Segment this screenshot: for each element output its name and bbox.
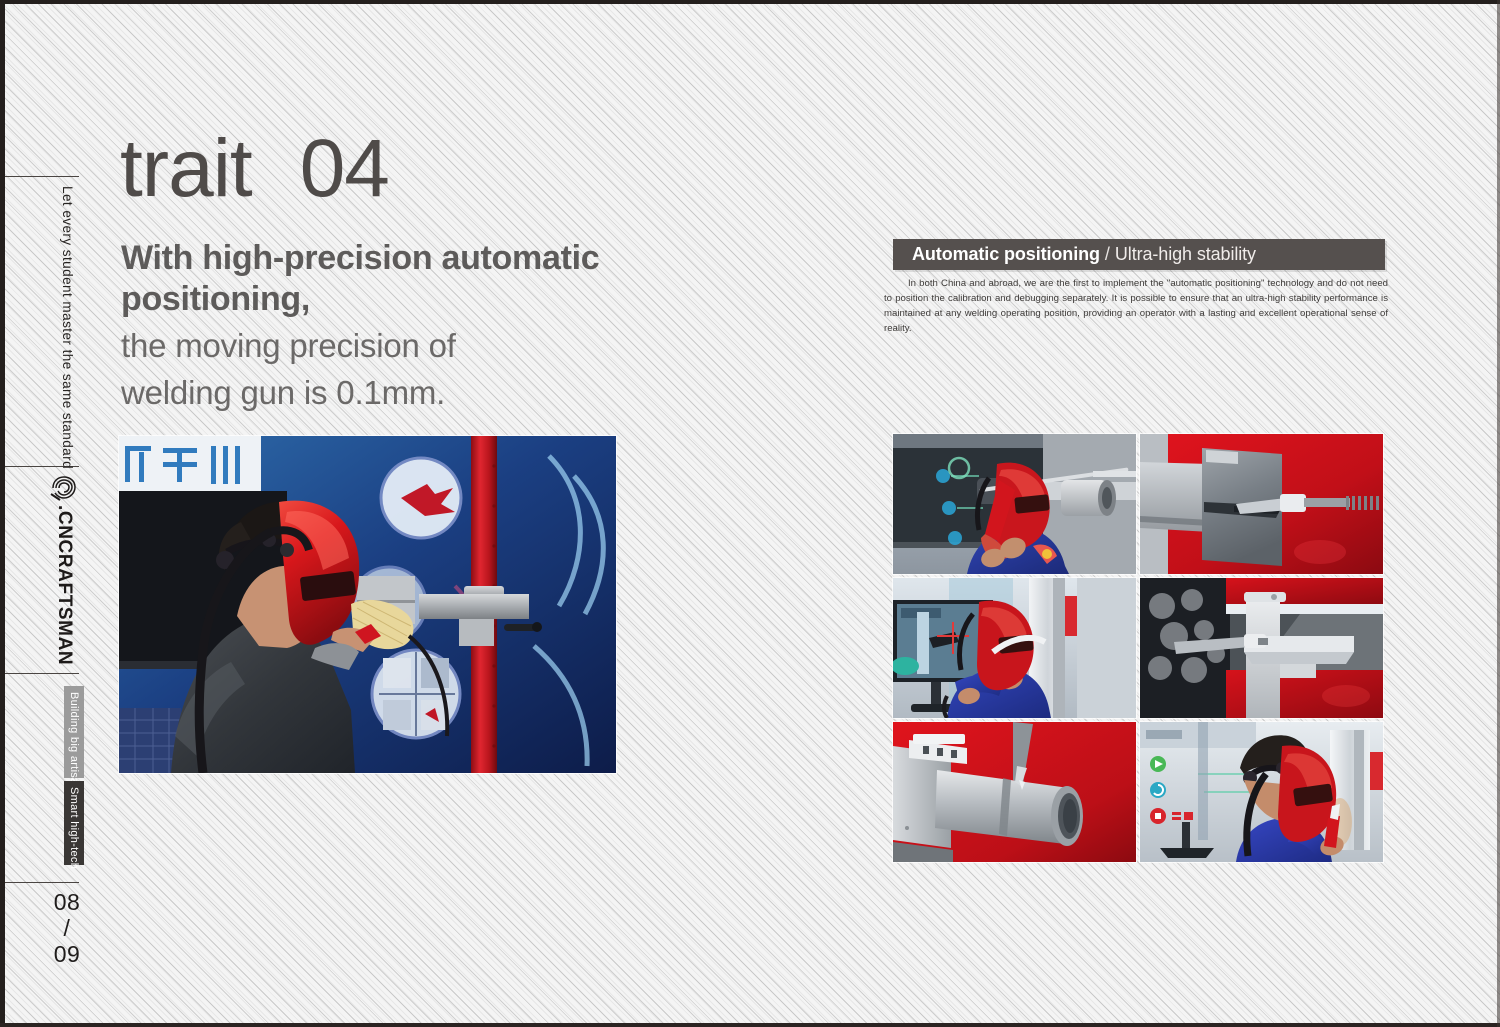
headline-block: With high-precision automatic positionin… [121, 238, 761, 415]
grid-photo-4 [1140, 578, 1383, 718]
headline-bold: With high-precision automatic positionin… [121, 238, 761, 321]
company-slogan: Let every student master the same standa… [60, 186, 75, 469]
page-frame-left [0, 0, 5, 1027]
trait-number: 04 [300, 128, 389, 210]
section-body-copy: In both China and abroad, we are the fir… [884, 276, 1388, 337]
brochure-page: Let every student master the same standa… [0, 0, 1500, 1027]
sidebar-divider-3 [5, 673, 79, 674]
section-banner: Automatic positioning / Ultra-high stabi… [893, 239, 1385, 270]
grid-photo-2 [1140, 434, 1383, 574]
sidebar-tag-building-big-artisans: Building big artisans [64, 686, 84, 778]
brand-name: .CNCRAFTSMAN [53, 505, 75, 665]
page-number: 08 / 09 [42, 890, 92, 967]
page-number-current: 08 [42, 890, 92, 916]
grid-photo-6 [1140, 722, 1383, 862]
sidebar-divider-4 [5, 882, 79, 883]
banner-title-light: Ultra-high stability [1115, 244, 1256, 265]
sidebar-divider-1 [5, 176, 79, 177]
headline-light-line-1: the moving precision of [121, 325, 761, 368]
cncraftsman-logo-icon [49, 474, 79, 501]
brand-block: .CNCRAFTSMAN [45, 474, 93, 665]
trait-label: trait [120, 128, 252, 210]
page-frame-bottom [0, 1023, 1500, 1027]
grid-photo-3 [893, 578, 1136, 718]
trait-heading: trait 04 [120, 128, 389, 210]
sidebar-tag-smart-high-tech: Smart high-tech [64, 781, 84, 865]
banner-title-strong: Automatic positioning [912, 244, 1100, 265]
sidebar: Let every student master the same standa… [5, 0, 97, 1027]
hero-photo-welding-student [119, 436, 616, 773]
banner-separator: / [1105, 244, 1110, 265]
page-number-total: 09 [42, 942, 92, 968]
page-number-separator: / [42, 916, 92, 942]
grid-photo-1 [893, 434, 1136, 574]
page-frame-top [0, 0, 1500, 4]
headline-light-line-2: welding gun is 0.1mm. [121, 372, 761, 415]
grid-photo-5 [893, 722, 1136, 862]
